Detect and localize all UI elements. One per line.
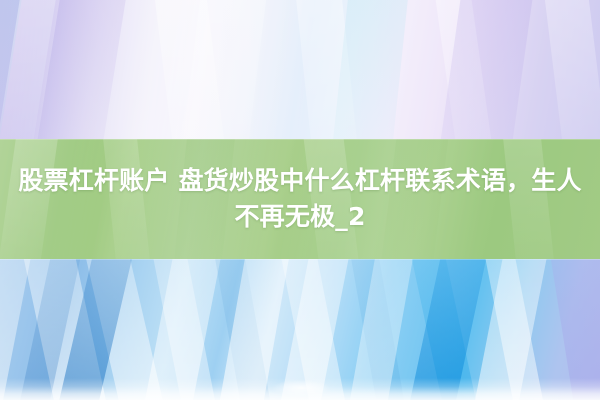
light-ray [0,0,66,140]
chevron-shape [212,259,277,400]
light-ray [176,0,271,140]
chevron-shape [343,259,416,400]
chevron-shape [401,259,490,400]
light-ray [150,0,231,140]
chevron-shape [82,259,172,400]
chevron-shape [0,259,34,400]
light-ray [292,0,363,140]
chevron-shape [278,259,353,400]
chevron-shape [467,259,550,400]
background-band-top [0,0,600,140]
chevron-shape [213,259,292,400]
chevron-shape [137,259,224,400]
light-ray [540,0,600,140]
title-line-2: 不再无极_2 [234,199,365,235]
chevron-shape [348,259,411,400]
light-ray [24,0,132,140]
background-band-bottom [0,259,600,400]
light-ray [432,0,538,140]
banner-title: 股票杠杆账户 盘货炒股中什么杠杆联系术语，生人 不再无极_2 [0,139,600,259]
chevron-shape [273,259,352,400]
chevron-shape [408,259,485,400]
light-ray [430,0,500,140]
bottom-glow [272,380,330,396]
chevron-shape [50,259,136,400]
chevron-shape [150,259,223,400]
light-ray [0,0,28,140]
title-line-1: 股票杠杆账户 盘货炒股中什么杠杆联系术语，生人 [18,163,581,199]
bottom-fade [0,378,600,400]
banner-image: 股票杠杆账户 盘货炒股中什么杠杆联系术语，生人 不再无极_2 [0,0,600,400]
chevron-shape [20,259,115,400]
chevron-shape [548,259,600,400]
chevron-shape [482,259,551,400]
chevron-shape [11,259,84,400]
light-ray [327,0,412,140]
